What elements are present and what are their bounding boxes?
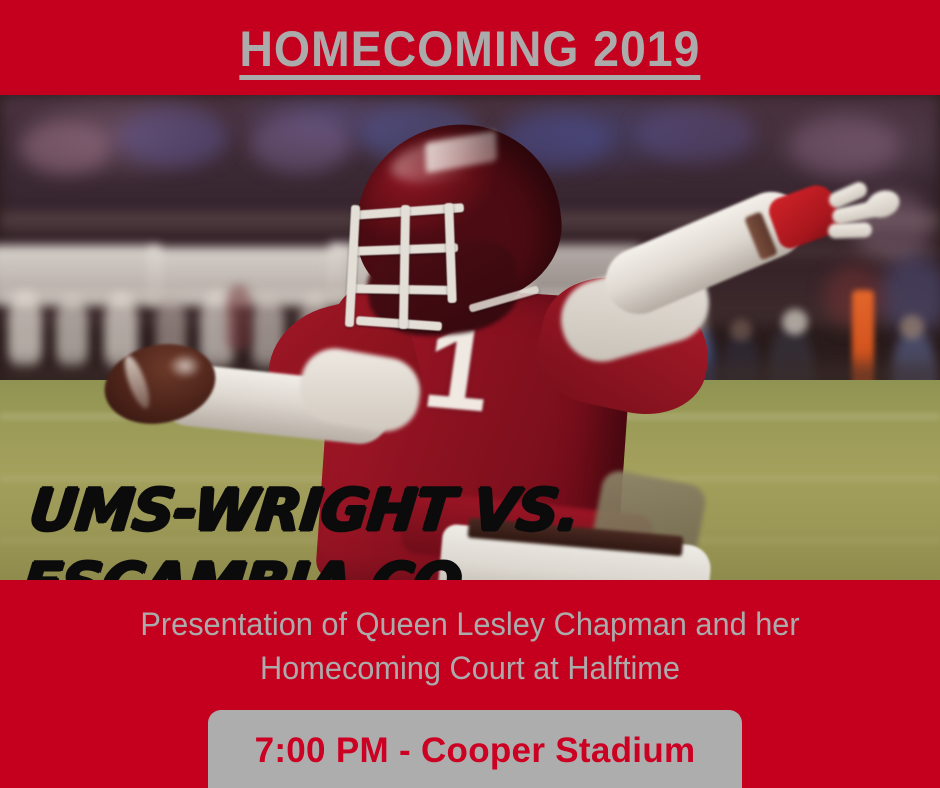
glove-finger bbox=[828, 222, 872, 239]
game-matchup-line-2: Escambia Co. bbox=[18, 547, 586, 580]
page-title: HOMECOMING 2019 bbox=[240, 24, 701, 74]
football-highlight bbox=[168, 353, 202, 379]
game-matchup-line-1: UMS-Wright vs. bbox=[26, 473, 594, 547]
top-banner: HOMECOMING 2019 bbox=[0, 0, 940, 95]
event-description: Presentation of Queen Lesley Chapman and… bbox=[19, 602, 921, 690]
event-description-line-2: Homecoming Court at Halftime bbox=[19, 646, 921, 690]
player-photo: 1 bbox=[0, 95, 940, 580]
time-location-box: 7:00 PM - Cooper Stadium bbox=[208, 710, 742, 788]
game-matchup-title: UMS-Wright vs. Escambia Co. bbox=[18, 473, 594, 580]
homecoming-poster: HOMECOMING 2019 bbox=[0, 0, 940, 788]
time-location-text: 7:00 PM - Cooper Stadium bbox=[255, 733, 696, 768]
event-description-line-1: Presentation of Queen Lesley Chapman and… bbox=[19, 602, 921, 646]
